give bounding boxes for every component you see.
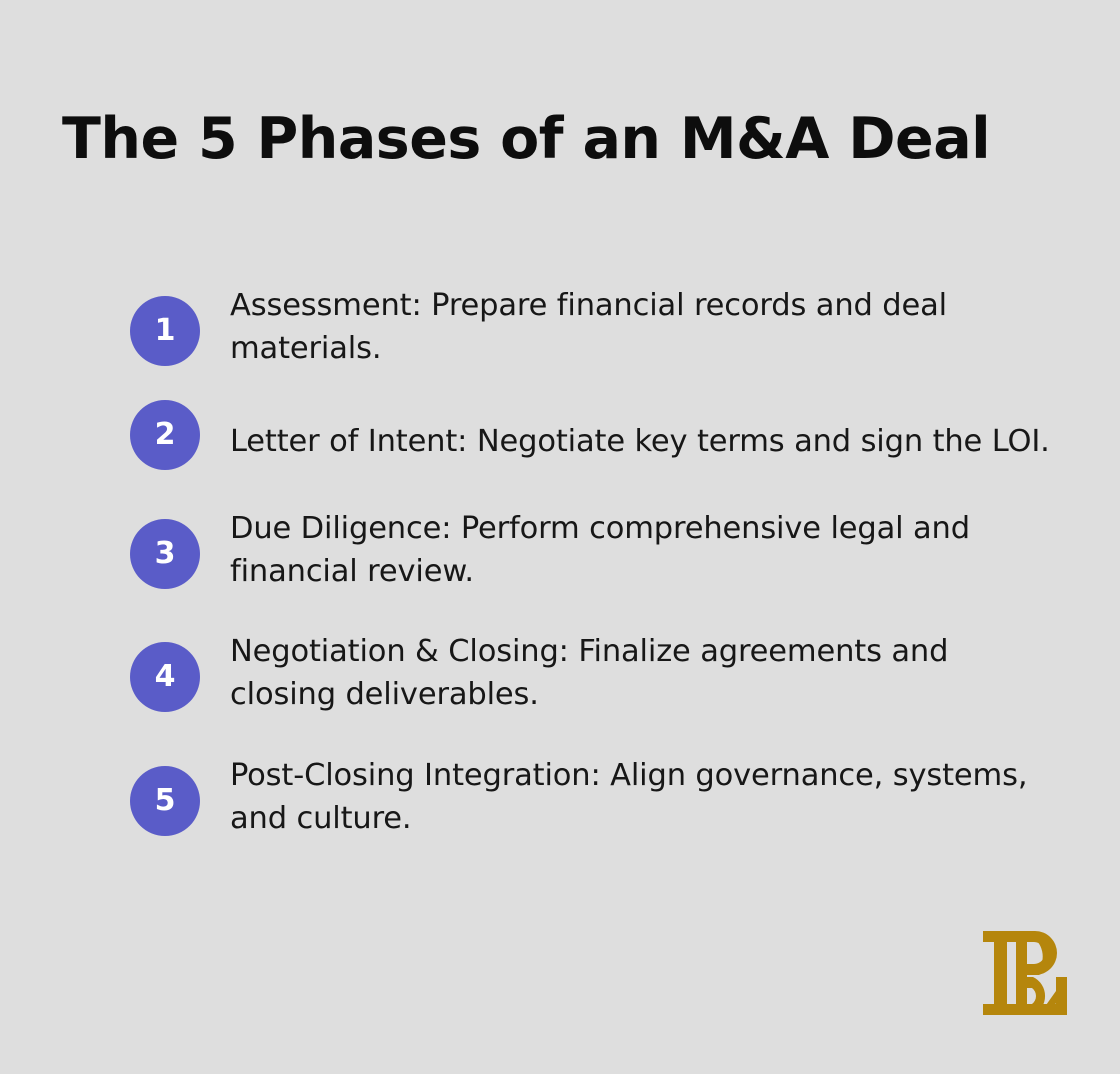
- step-number-badge: 5: [130, 766, 200, 836]
- bpl-monogram-logo: [977, 925, 1073, 1021]
- list-item: 3 Due Diligence: Perform comprehensive l…: [130, 499, 1060, 594]
- list-item: 5 Post-Closing Integration: Align govern…: [130, 746, 1060, 841]
- step-description: Assessment: Prepare financial records an…: [230, 276, 1060, 371]
- list-item: 1 Assessment: Prepare financial records …: [130, 276, 1060, 371]
- list-item: 4 Negotiation & Closing: Finalize agreem…: [130, 622, 1060, 717]
- step-description: Negotiation & Closing: Finalize agreemen…: [230, 622, 1060, 717]
- infographic-canvas: The 5 Phases of an M&A Deal 1 Assessment…: [0, 0, 1120, 1074]
- page-title: The 5 Phases of an M&A Deal: [62, 108, 1062, 172]
- bpl-monogram-icon: [977, 925, 1073, 1021]
- step-number-badge: 4: [130, 642, 200, 712]
- step-number-badge: 2: [130, 400, 200, 470]
- list-item: 2 Letter of Intent: Negotiate key terms …: [130, 400, 1060, 470]
- step-number-badge: 3: [130, 519, 200, 589]
- phases-list: 1 Assessment: Prepare financial records …: [130, 276, 1060, 840]
- step-number-badge: 1: [130, 296, 200, 366]
- step-description: Letter of Intent: Negotiate key terms an…: [230, 400, 1060, 463]
- step-description: Post-Closing Integration: Align governan…: [230, 746, 1060, 841]
- step-description: Due Diligence: Perform comprehensive leg…: [230, 499, 1060, 594]
